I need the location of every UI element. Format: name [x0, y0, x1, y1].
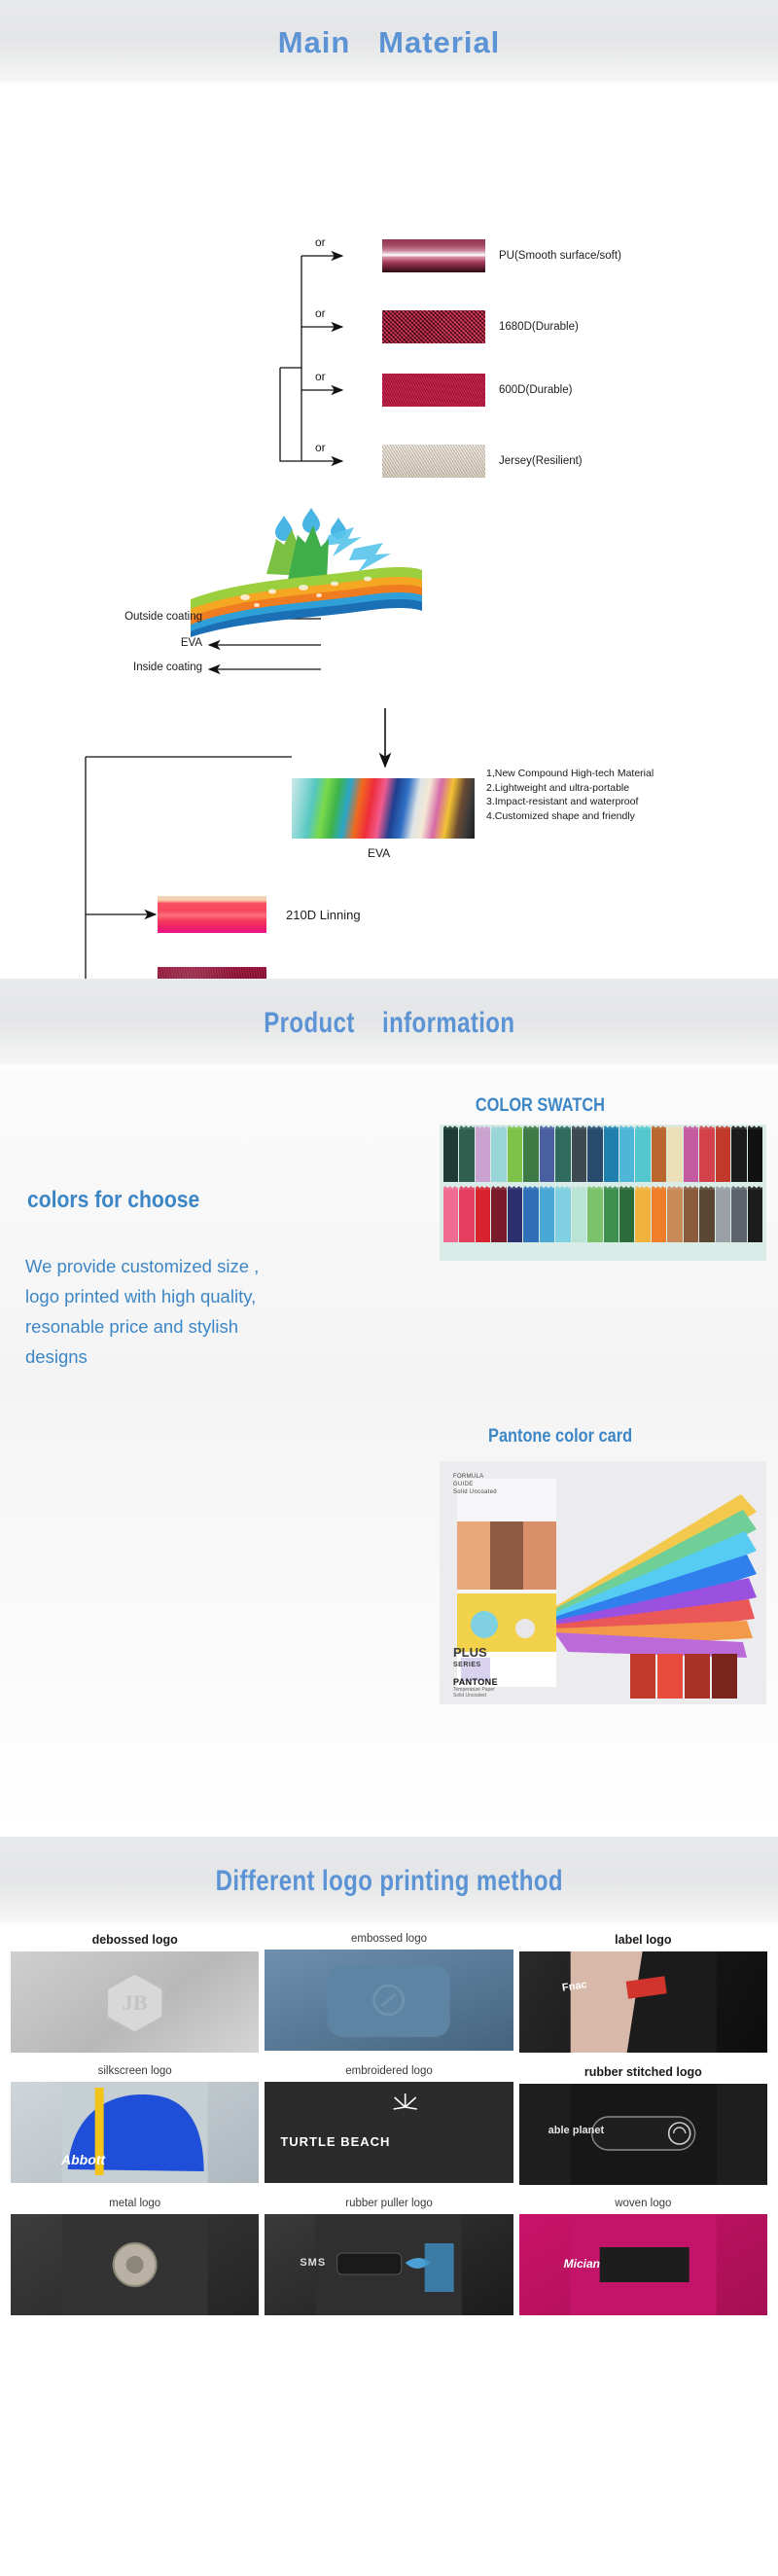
logo-caption-embossed: embossed logo — [265, 1926, 513, 1950]
eva-caption: EVA — [368, 846, 390, 860]
material-row-jersey: Jersey(Resilient) — [382, 445, 583, 478]
logo-caption-embroidered: embroidered logo — [265, 2058, 513, 2082]
color-chip — [476, 1190, 490, 1242]
logo-photo-caption-sms: SMS — [300, 2257, 326, 2269]
color-chip — [443, 1190, 458, 1242]
color-chip — [635, 1190, 650, 1242]
swatch-eva-sheets — [292, 778, 475, 839]
color-chip — [587, 1190, 602, 1242]
logo-photo-caption-turtle-beach: TURTLE BEACH — [280, 2134, 390, 2149]
color-chip — [555, 1190, 570, 1242]
color-chip — [572, 1190, 586, 1242]
color-chip — [748, 1129, 762, 1182]
color-chip — [459, 1129, 474, 1182]
logo-method-silkscreen[interactable]: silkscreen logo Abbott — [8, 2058, 262, 2191]
material-row-1680d: 1680D(Durable) — [382, 310, 579, 343]
banner-title-product-information: Product information — [264, 1007, 514, 1040]
color-swatch-row-1 — [443, 1129, 762, 1182]
or-label-2: or — [315, 306, 326, 320]
feature-item-2: 2.Lightweight and ultra-portable — [486, 781, 654, 796]
swatch-1680d-fabric — [382, 310, 485, 343]
logo-caption-silkscreen: silkscreen logo — [11, 2058, 259, 2082]
logo-method-debossed[interactable]: debossed logo JB — [8, 1926, 262, 2058]
color-chip — [667, 1129, 682, 1182]
material-row-pu: PU(Smooth surface/soft) — [382, 239, 621, 272]
layer-label-eva: EVA — [27, 637, 202, 649]
swatch-jersey-fabric — [382, 445, 485, 478]
or-label-1: or — [315, 235, 326, 249]
color-chip — [699, 1129, 714, 1182]
color-chip — [476, 1129, 490, 1182]
color-chip — [572, 1129, 586, 1182]
pantone-color-card-photo: FORMULA GUIDE Solid Uncoated PLUS SERIES… — [440, 1461, 766, 1704]
logo-method-grid: debossed logo JB embossed logo — [0, 1926, 778, 2321]
logo-method-rubber-stitched[interactable]: rubber stitched logo able planet — [516, 2058, 770, 2191]
banner-product-information: Product information — [0, 979, 778, 1068]
feature-item-4: 4.Customized shape and friendly — [486, 809, 654, 824]
color-chip — [748, 1190, 762, 1242]
product-detail-page: Main Material — [0, 0, 778, 2325]
feature-item-3: 3.Impact-resistant and waterproof — [486, 795, 654, 809]
logo-photo-woven: Mician — [519, 2214, 767, 2315]
color-chip — [731, 1190, 746, 1242]
color-chip — [508, 1190, 522, 1242]
swatch-600d-fabric — [382, 374, 485, 407]
material-row-600d: 600D(Durable) — [382, 374, 572, 407]
logo-caption-label: label logo — [519, 1926, 767, 1951]
color-chip — [716, 1129, 730, 1182]
lining-row-velvet: Velvet(Fashion) — [158, 967, 373, 979]
color-chip — [491, 1129, 506, 1182]
banner-logo-printing: Different logo printing method — [0, 1837, 778, 1926]
color-chip — [459, 1190, 474, 1242]
material-label-600d: 600D(Durable) — [499, 384, 572, 396]
section-product-information: COLOR SWATCH colors for choose We provid… — [0, 1068, 778, 1837]
color-chip — [684, 1190, 698, 1242]
swatch-210d-lining — [158, 896, 266, 933]
logo-photo-debossed: JB — [11, 1951, 259, 2053]
logo-caption-woven: woven logo — [519, 2191, 767, 2214]
color-chip — [652, 1129, 666, 1182]
swatch-pu-leather — [382, 239, 485, 272]
logo-photo-caption-mician: Mician — [564, 2257, 600, 2271]
colors-for-choose-heading: colors for choose — [27, 1187, 199, 1214]
svg-text:JB: JB — [123, 1990, 148, 2015]
logo-caption-rubber-stitched: rubber stitched logo — [519, 2058, 767, 2084]
color-chip — [540, 1190, 554, 1242]
layer-label-outside-coating: Outside coating — [27, 611, 202, 623]
color-chip — [652, 1190, 666, 1242]
color-chip — [508, 1129, 522, 1182]
colors-description: We provide customized size , logo printe… — [25, 1251, 278, 1372]
section-main-material: or PU(Smooth surface/soft) or 1680D(Dura… — [0, 86, 778, 979]
logo-photo-rubber-puller: SMS — [265, 2214, 513, 2315]
pantone-heading: Pantone color card — [488, 1426, 632, 1448]
color-chip — [699, 1190, 714, 1242]
color-chip — [619, 1190, 634, 1242]
banner-title-logo-printing: Different logo printing method — [215, 1865, 562, 1898]
logo-caption-debossed: debossed logo — [11, 1926, 259, 1951]
color-chip — [716, 1190, 730, 1242]
logo-photo-caption-abbott: Abbott — [61, 2152, 105, 2167]
color-swatch-row-2 — [443, 1190, 762, 1242]
logo-caption-metal: metal logo — [11, 2191, 259, 2214]
logo-method-metal[interactable]: metal logo — [8, 2191, 262, 2321]
color-chip — [540, 1129, 554, 1182]
logo-method-label[interactable]: label logo Fnac — [516, 1926, 770, 2058]
color-chip — [443, 1129, 458, 1182]
swatch-velvet-fabric — [158, 967, 266, 979]
eva-composite-illustration — [183, 506, 426, 637]
color-chip — [587, 1129, 602, 1182]
color-chip — [684, 1129, 698, 1182]
logo-method-rubber-puller[interactable]: rubber puller logo SMS — [262, 2191, 515, 2321]
layer-label-inside-coating: Inside coating — [27, 662, 202, 673]
logo-photo-caption-able-planet: able planet — [548, 2125, 604, 2136]
color-chip — [604, 1129, 619, 1182]
logo-photo-rubber-stitched: able planet — [519, 2084, 767, 2185]
logo-photo-embroidered: TURTLE BEACH — [265, 2082, 513, 2183]
or-label-4: or — [315, 441, 326, 454]
color-swatch-heading: COLOR SWATCH — [476, 1095, 605, 1117]
color-chip — [731, 1129, 746, 1182]
logo-method-woven[interactable]: woven logo Mician — [516, 2191, 770, 2321]
pantone-fan-illustration — [440, 1461, 766, 1704]
banner-main-material: Main Material — [0, 0, 778, 86]
logo-photo-label: Fnac — [519, 1951, 767, 2053]
section-logo-printing: debossed logo JB embossed logo — [0, 1926, 778, 2325]
color-chip — [667, 1190, 682, 1242]
pantone-guide-text: FORMULA GUIDE Solid Uncoated — [453, 1473, 497, 1496]
color-chip — [604, 1190, 619, 1242]
logo-caption-rubber-puller: rubber puller logo — [265, 2191, 513, 2214]
color-chip — [555, 1129, 570, 1182]
color-chip — [491, 1190, 506, 1242]
logo-photo-metal — [11, 2214, 259, 2315]
material-label-pu: PU(Smooth surface/soft) — [499, 250, 621, 262]
material-label-1680d: 1680D(Durable) — [499, 321, 579, 333]
pantone-brand-text: PANTONE — [453, 1677, 498, 1687]
lining-row-210d: 210D Linning — [158, 896, 361, 933]
color-chip — [523, 1190, 538, 1242]
feature-item-1: 1,New Compound High-tech Material — [486, 767, 654, 781]
logo-photo-silkscreen: Abbott — [11, 2082, 259, 2183]
or-label-3: or — [315, 370, 326, 383]
feature-list: 1,New Compound High-tech Material 2.Ligh… — [486, 767, 654, 823]
logo-photo-embossed — [265, 1950, 513, 2051]
pantone-footnote: Temperature Paper Solid Uncoated — [453, 1687, 495, 1699]
color-chip — [619, 1129, 634, 1182]
logo-method-embossed[interactable]: embossed logo — [262, 1926, 515, 2058]
logo-method-embroidered[interactable]: embroidered logo TURTLE BEACH — [262, 2058, 515, 2191]
color-swatch-card — [440, 1125, 766, 1261]
material-label-jersey: Jersey(Resilient) — [499, 455, 583, 467]
lining-label-210d: 210D Linning — [286, 908, 361, 922]
pantone-plus-text: PLUS SERIES — [453, 1646, 487, 1671]
banner-title-main-material: Main Material — [278, 25, 501, 60]
color-chip — [635, 1129, 650, 1182]
color-chip — [523, 1129, 538, 1182]
